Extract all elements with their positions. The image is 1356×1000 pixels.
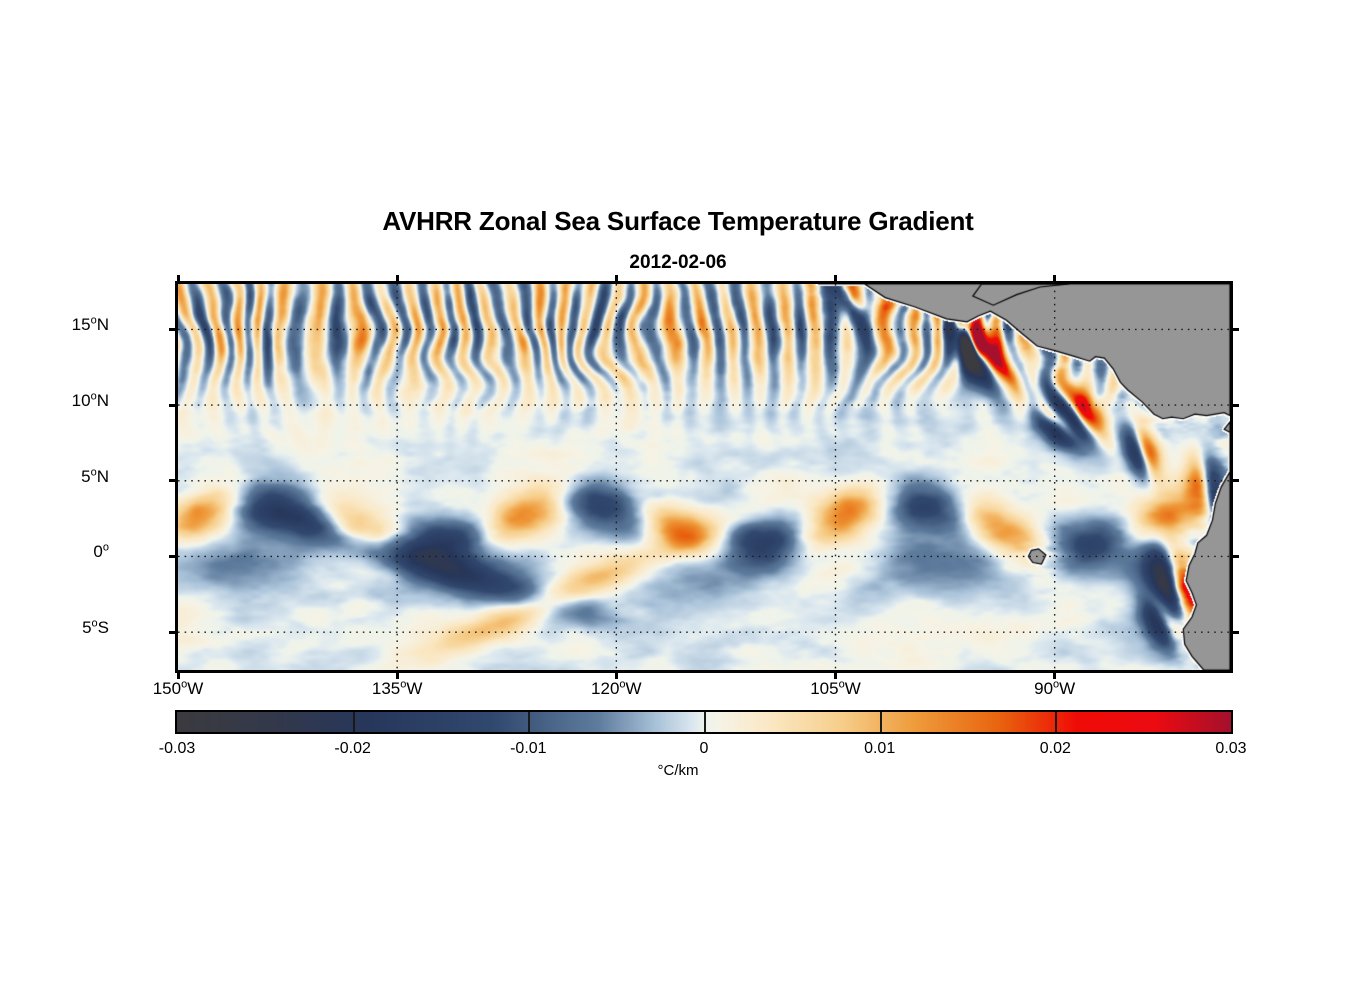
y-axis-tick xyxy=(1230,404,1239,407)
x-axis-tick xyxy=(396,670,399,679)
y-axis-tick xyxy=(169,479,178,482)
colorbar-tick-label: -0.02 xyxy=(334,740,370,758)
x-axis-tick xyxy=(396,275,399,284)
y-axis-tick xyxy=(169,631,178,634)
colorbar-tick xyxy=(353,712,355,732)
colorbar-tick xyxy=(1055,712,1057,732)
colorbar-unit-label: °C/km xyxy=(0,762,1356,779)
y-axis-tick-label: 5oS xyxy=(82,618,109,638)
colorbar-tick-label: 0 xyxy=(700,740,709,758)
sst-gradient-heatmap xyxy=(178,284,1230,670)
colorbar-tick-label: 0.01 xyxy=(864,740,895,758)
y-axis-tick xyxy=(1230,328,1239,331)
colorbar-tick-label: 0.03 xyxy=(1215,740,1246,758)
x-axis-tick-label: 150oW xyxy=(153,679,204,699)
y-axis-tick xyxy=(1230,555,1239,558)
y-axis-tick xyxy=(169,555,178,558)
x-axis-tick xyxy=(834,275,837,284)
y-axis-tick-label: 5oN xyxy=(81,467,109,487)
colorbar[interactable] xyxy=(175,710,1233,734)
y-axis-tick xyxy=(169,328,178,331)
y-axis-tick xyxy=(169,404,178,407)
x-axis-tick xyxy=(615,670,618,679)
x-axis-tick-label: 105oW xyxy=(810,679,861,699)
colorbar-tick xyxy=(880,712,882,732)
x-axis-tick xyxy=(1053,275,1056,284)
y-axis-tick-label: 0o xyxy=(93,542,109,562)
x-axis-tick xyxy=(834,670,837,679)
x-axis-tick-label: 90oW xyxy=(1034,679,1075,699)
x-axis-tick-label: 120oW xyxy=(591,679,642,699)
colorbar-tick-label: -0.01 xyxy=(510,740,546,758)
x-axis-tick xyxy=(177,275,180,284)
figure-subtitle: 2012-02-06 xyxy=(0,252,1356,274)
y-axis-tick-label: 10oN xyxy=(72,391,109,411)
y-axis-tick xyxy=(1230,479,1239,482)
x-axis-tick-label: 135oW xyxy=(372,679,423,699)
x-axis-tick xyxy=(177,670,180,679)
colorbar-tick-label: -0.03 xyxy=(159,740,195,758)
colorbar-tick xyxy=(528,712,530,732)
colorbar-tick-label: 0.02 xyxy=(1040,740,1071,758)
y-axis-tick-label: 15oN xyxy=(72,315,109,335)
y-axis-tick xyxy=(1230,631,1239,634)
colorbar-tick xyxy=(704,712,706,732)
map-axes[interactable] xyxy=(175,281,1233,673)
figure-canvas: AVHRR Zonal Sea Surface Temperature Grad… xyxy=(0,0,1356,1000)
x-axis-tick xyxy=(615,275,618,284)
page-title: AVHRR Zonal Sea Surface Temperature Grad… xyxy=(0,206,1356,237)
